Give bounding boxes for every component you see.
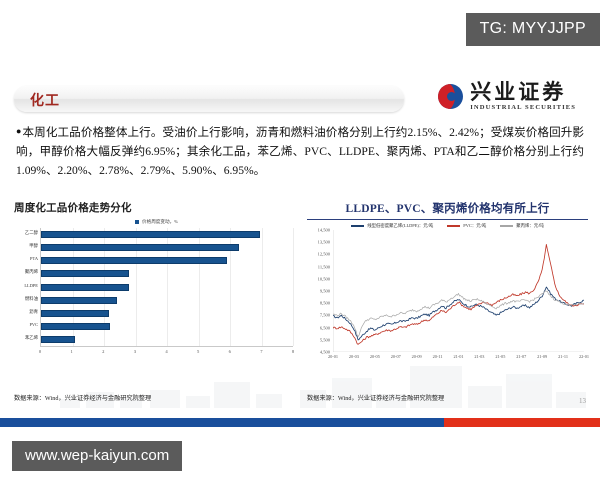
bar-category-label: PVC: [29, 322, 38, 327]
table-row: PVC: [41, 323, 110, 330]
telegram-watermark: TG: MYYJJPP: [466, 13, 600, 46]
bar-category-label: LLDPE: [24, 283, 38, 288]
line-y-tick-label: 9,500: [320, 289, 330, 294]
brand-name-en: INDUSTRIAL SECURITIES: [470, 105, 576, 112]
bar-x-tick-label: 7: [260, 349, 262, 354]
line-series-path: [333, 244, 584, 344]
bar-x-tick-label: 2: [102, 349, 104, 354]
bar-chart-plot-area: 乙二醇甲醇PTA聚丙烯LLDPE燃料油沥青PVC苯乙烯: [40, 228, 293, 347]
bar-fill: [41, 284, 129, 291]
bar-fill: [41, 231, 260, 238]
line-chart-source: 数据来源：Wind，兴业证券经济与金融研究院整理: [307, 393, 444, 402]
bar-chart-source: 数据来源：Wind，兴业证券经济与金融研究院整理: [14, 393, 151, 402]
legend-item: PVC：元/吨: [447, 223, 486, 229]
line-x-tick-label: 20-09: [412, 354, 422, 359]
line-x-tick-label: 22-01: [579, 354, 589, 359]
legend-line-icon: [500, 225, 513, 227]
bar-fill: [41, 336, 75, 343]
line-chart-x-axis: 20-0120-0320-0520-0720-0920-1121-0121-03…: [333, 352, 584, 362]
line-y-tick-label: 12,500: [318, 252, 330, 257]
bar-fill: [41, 297, 117, 304]
table-row: LLDPE: [41, 284, 129, 291]
line-x-tick-label: 20-11: [433, 354, 443, 359]
table-row: 聚丙烯: [41, 270, 129, 277]
line-x-tick-label: 21-03: [474, 354, 484, 359]
line-chart-title: LLDPE、PVC、聚丙烯价格均有所上行: [307, 200, 588, 220]
legend-swatch-icon: [135, 220, 139, 224]
line-y-tick-label: 8,500: [320, 301, 330, 306]
line-y-tick-label: 5,500: [320, 337, 330, 342]
legend-line-icon: [447, 225, 460, 227]
bar-category-label: 燃料油: [25, 296, 38, 302]
footer-bar-blue: [0, 418, 444, 427]
logo-mark-icon: [438, 84, 463, 109]
line-x-tick-label: 20-01: [328, 354, 338, 359]
bar-chart-legend: 价格周度变动，%: [14, 219, 299, 225]
bar-fill: [41, 323, 110, 330]
bar-category-label: 苯乙烯: [25, 335, 38, 341]
table-row: 沥青: [41, 310, 109, 317]
chart-panel-line: LLDPE、PVC、聚丙烯价格均有所上行 线型低密度聚乙烯(LLDPE)：元/吨…: [307, 200, 588, 385]
bar-fill: [41, 244, 239, 251]
section-title: 化工: [30, 90, 60, 110]
bar-x-tick-label: 1: [70, 349, 72, 354]
table-row: 苯乙烯: [41, 336, 75, 343]
bar-category-label: 甲醇: [29, 243, 38, 249]
bar-x-tick-label: 8: [292, 349, 294, 354]
company-logo: 兴业证券 INDUSTRIAL SECURITIES: [438, 82, 576, 112]
line-y-tick-label: 7,500: [320, 313, 330, 318]
line-y-tick-label: 6,500: [320, 325, 330, 330]
bar-legend-label: 价格周度变动，%: [142, 219, 178, 225]
legend-line-icon: [351, 225, 364, 227]
legend-item: 聚丙烯：元/吨: [500, 223, 544, 229]
line-y-tick-label: 13,500: [318, 240, 330, 245]
line-y-tick-label: 11,500: [318, 264, 330, 269]
bar-fill: [41, 270, 129, 277]
line-x-tick-label: 20-05: [370, 354, 380, 359]
bar-x-tick-label: 0: [39, 349, 41, 354]
section-tab-bar: [14, 86, 404, 112]
legend-item: 线型低密度聚乙烯(LLDPE)：元/吨: [351, 223, 433, 229]
line-x-tick-label: 20-03: [349, 354, 359, 359]
legend-label: 聚丙烯：元/吨: [516, 223, 544, 229]
bar-gridline: [293, 228, 294, 346]
line-chart-plot-area: 14,50013,50012,50011,50010,5009,5008,500…: [333, 230, 584, 352]
body-paragraph: ●本周化工品价格整体上行。受油价上行影响，沥青和燃料油价格分别上行约2.15%、…: [16, 122, 584, 180]
legend-label: PVC：元/吨: [463, 223, 486, 229]
bar-chart-title: 周度化工品价格走势分化: [14, 200, 299, 215]
table-row: 燃料油: [41, 297, 117, 304]
footer-bar-red: [444, 418, 600, 427]
line-x-tick-label: 20-07: [391, 354, 401, 359]
bar-fill: [41, 257, 227, 264]
bar-x-tick-label: 5: [197, 349, 199, 354]
table-row: PTA: [41, 257, 227, 264]
legend-label: 线型低密度聚乙烯(LLDPE)：元/吨: [367, 223, 433, 229]
line-series-path: [333, 291, 584, 337]
bar-gridline: [262, 228, 263, 346]
brand-name-cn: 兴业证券: [470, 82, 576, 103]
body-paragraph-text: 本周化工品价格整体上行。受油价上行影响，沥青和燃料油价格分别上行约2.15%、2…: [16, 126, 584, 177]
line-series-path: [333, 287, 584, 340]
url-watermark: www.wep-kaiyun.com: [12, 441, 182, 471]
bar-fill: [41, 310, 109, 317]
slide: 化工 兴业证券 INDUSTRIAL SECURITIES ●本周化工品价格整体…: [0, 0, 600, 427]
table-row: 乙二醇: [41, 231, 260, 238]
page-number: 13: [579, 397, 586, 405]
line-x-tick-label: 21-09: [537, 354, 547, 359]
bar-category-label: 乙二醇: [25, 230, 38, 236]
bullet-icon: ●: [16, 126, 22, 136]
bar-x-tick-label: 4: [165, 349, 167, 354]
line-chart-svg: [333, 230, 584, 352]
footer-color-bar: [0, 418, 600, 427]
bar-chart-x-axis: 012345678: [40, 347, 293, 357]
line-x-tick-label: 21-01: [453, 354, 463, 359]
line-chart-legend: 线型低密度聚乙烯(LLDPE)：元/吨PVC：元/吨聚丙烯：元/吨: [307, 223, 588, 229]
bar-x-tick-label: 3: [134, 349, 136, 354]
line-x-tick-label: 21-07: [516, 354, 526, 359]
line-x-tick-label: 21-05: [495, 354, 505, 359]
line-y-tick-label: 10,500: [318, 276, 330, 281]
bar-x-tick-label: 6: [229, 349, 231, 354]
bar-category-label: 沥青: [29, 309, 38, 315]
bar-category-label: 聚丙烯: [25, 269, 38, 275]
line-x-tick-label: 21-11: [558, 354, 568, 359]
line-y-tick-label: 14,500: [318, 228, 330, 233]
bar-category-label: PTA: [30, 256, 38, 261]
chart-panel-bar: 周度化工品价格走势分化 价格周度变动，% 乙二醇甲醇PTA聚丙烯LLDPE燃料油…: [14, 200, 299, 385]
table-row: 甲醇: [41, 244, 239, 251]
